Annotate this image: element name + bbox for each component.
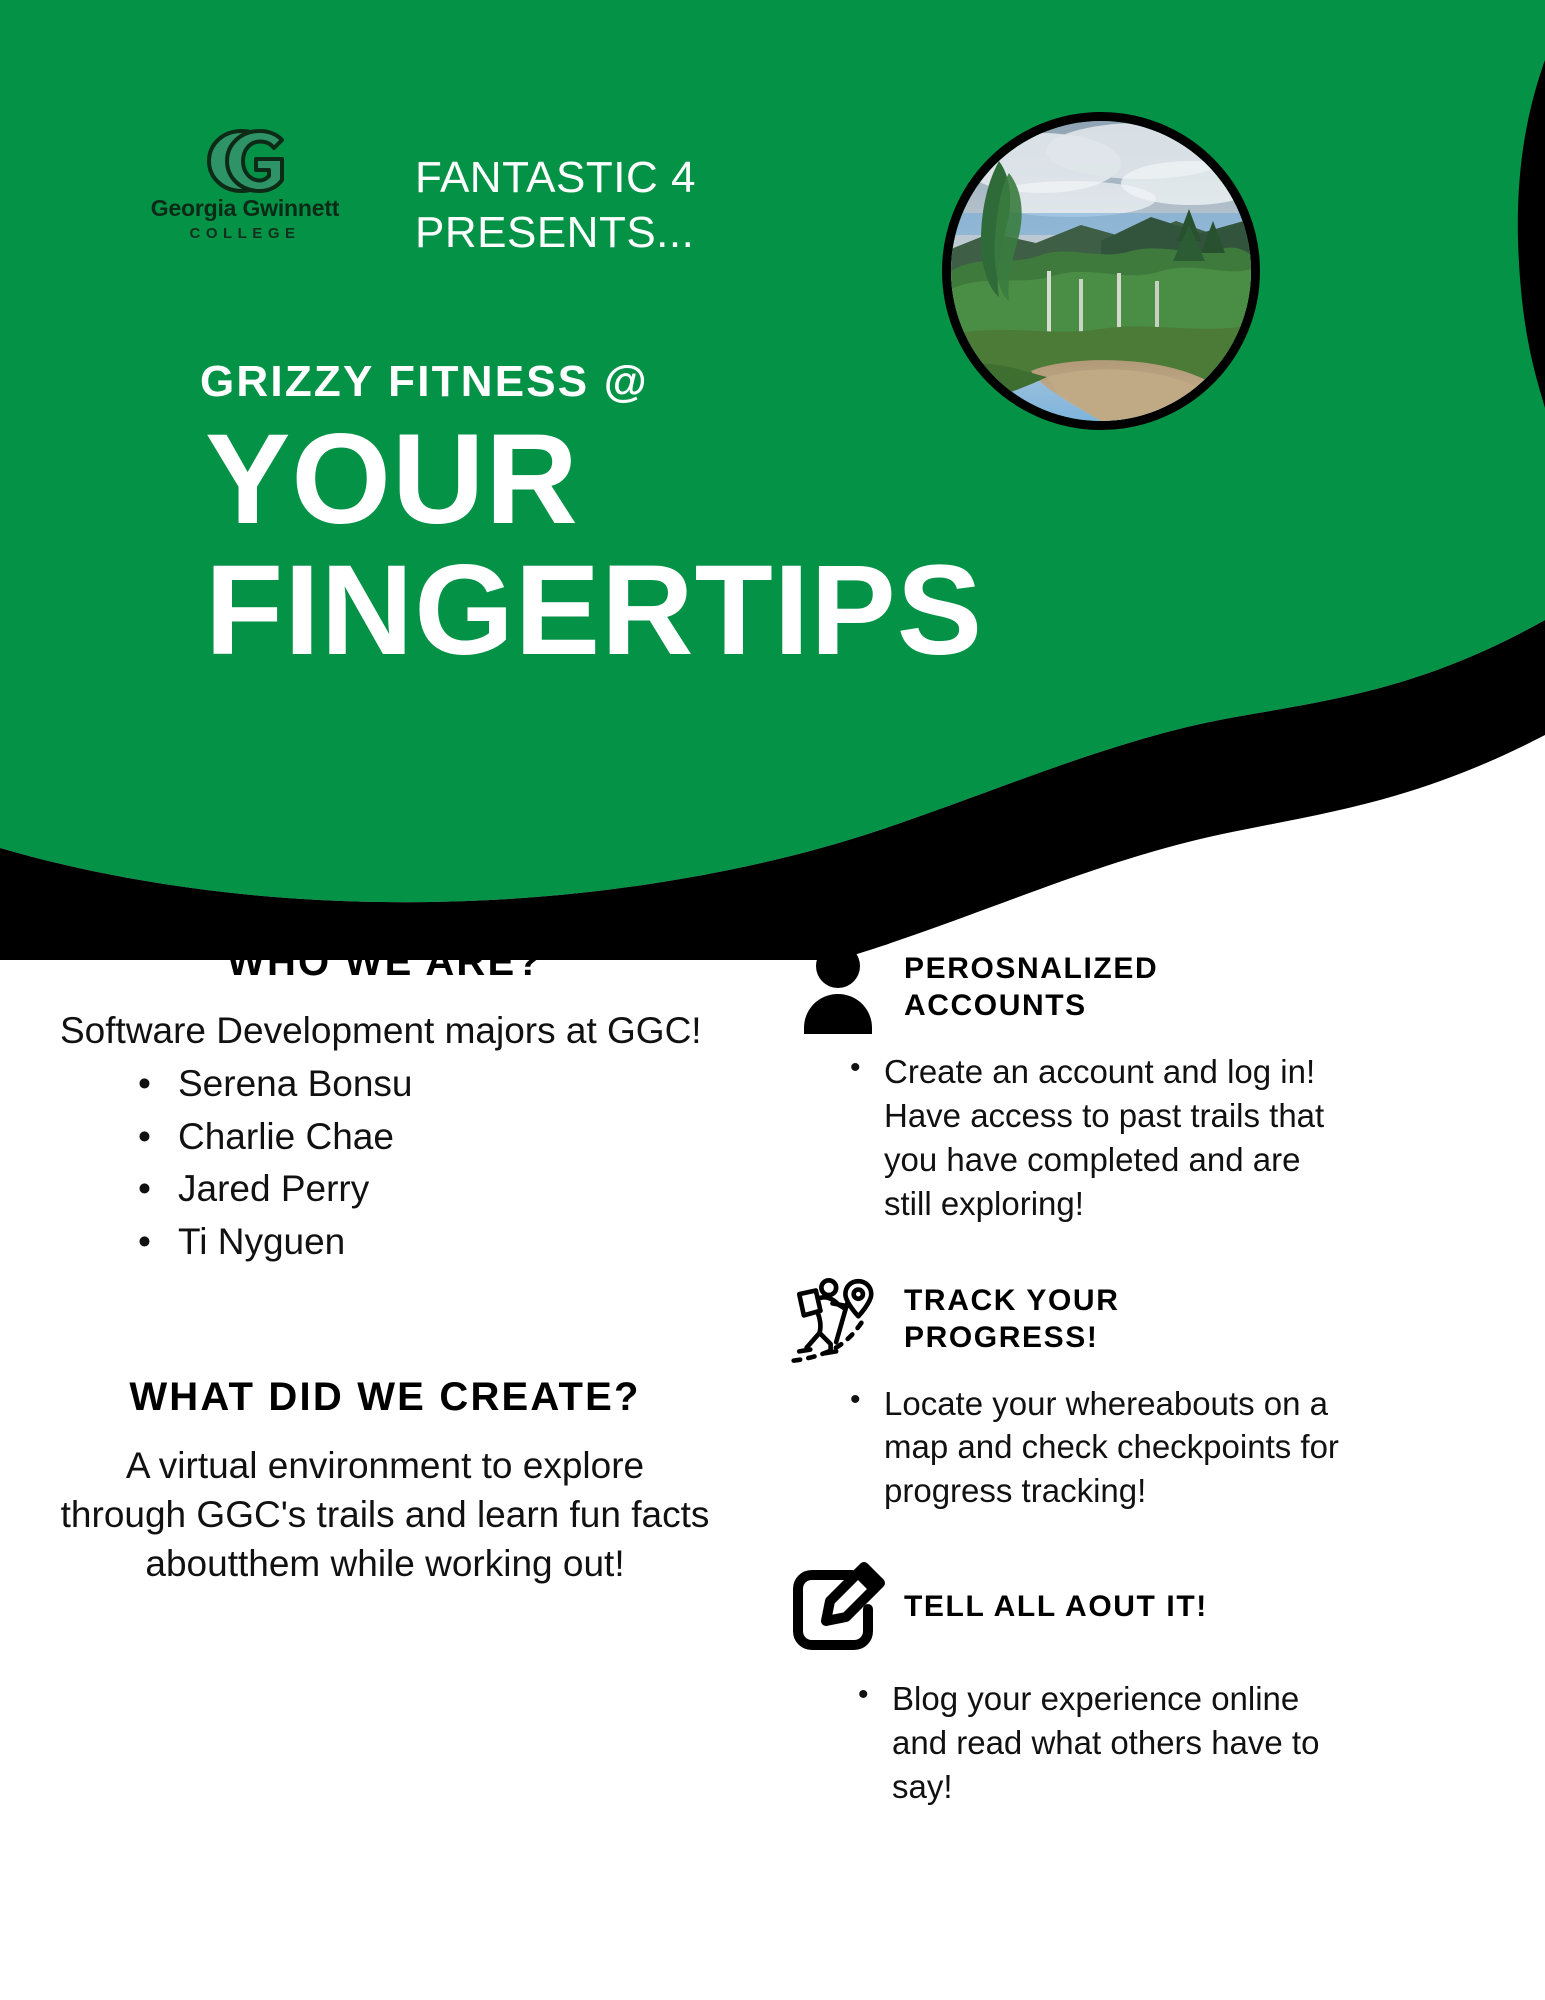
poster-title-line1: YOUR bbox=[205, 415, 1105, 546]
poster-canvas: Georgia Gwinnett COLLEGE FANTASTIC 4 PRE… bbox=[0, 0, 1545, 2000]
poster-title: YOUR FINGERTIPS bbox=[205, 415, 1105, 676]
list-item: Blog your experience online and read wha… bbox=[858, 1677, 1350, 1809]
ggc-logo-name: Georgia Gwinnett bbox=[150, 195, 340, 222]
feature-track-progress: TRACK YOUR PROGRESS! Locate your whereab… bbox=[790, 1272, 1350, 1514]
what-did-we-create-body: A virtual environment to explore through… bbox=[60, 1442, 710, 1588]
list-item: Create an account and log in! Have acces… bbox=[850, 1050, 1350, 1226]
feature-bullets: Blog your experience online and read wha… bbox=[790, 1677, 1350, 1809]
ggc-double-g-icon bbox=[202, 128, 288, 194]
hiker-map-pin-icon bbox=[790, 1272, 886, 1368]
who-we-are-heading: WHO WE ARE? bbox=[60, 940, 710, 985]
list-item: Ti Nyguen bbox=[138, 1218, 710, 1267]
feature-title: TRACK YOUR PROGRESS! bbox=[904, 1283, 1234, 1356]
right-column: PEROSNALIZED ACCOUNTS Create an account … bbox=[790, 940, 1350, 1819]
ggc-logo-subtitle: COLLEGE bbox=[150, 225, 340, 242]
edit-pencil-square-icon bbox=[790, 1559, 886, 1655]
presents-line: FANTASTIC 4 PRESENTS... bbox=[415, 150, 845, 261]
feature-title: TELL ALL AOUT IT! bbox=[904, 1589, 1208, 1626]
poster-title-line2: FINGERTIPS bbox=[205, 546, 1105, 677]
trail-photo-illustration bbox=[951, 121, 1251, 421]
feature-personalized-accounts: PEROSNALIZED ACCOUNTS Create an account … bbox=[790, 940, 1350, 1226]
ggc-logo: Georgia Gwinnett COLLEGE bbox=[150, 128, 340, 243]
list-item: Jared Perry bbox=[138, 1165, 710, 1214]
kicker-line: GRIZZY FITNESS @ bbox=[200, 357, 649, 407]
feature-bullets: Create an account and log in! Have acces… bbox=[790, 1050, 1350, 1226]
feature-header: PEROSNALIZED ACCOUNTS bbox=[790, 940, 1350, 1036]
feature-tell-all-about-it: TELL ALL AOUT IT! Blog your experience o… bbox=[790, 1559, 1350, 1809]
who-we-are-intro: Software Development majors at GGC! bbox=[60, 1007, 710, 1056]
feature-bullets: Locate your whereabouts on a map and che… bbox=[790, 1382, 1350, 1514]
trail-photo bbox=[942, 112, 1260, 430]
list-item: Charlie Chae bbox=[138, 1113, 710, 1162]
what-did-we-create-heading: WHAT DID WE CREATE? bbox=[60, 1375, 710, 1420]
feature-title: PEROSNALIZED ACCOUNTS bbox=[904, 951, 1234, 1024]
list-item: Serena Bonsu bbox=[138, 1060, 710, 1109]
list-item: Locate your whereabouts on a map and che… bbox=[850, 1382, 1350, 1514]
team-member-list: Serena Bonsu Charlie Chae Jared Perry Ti… bbox=[60, 1060, 710, 1267]
feature-header: TELL ALL AOUT IT! bbox=[790, 1559, 1350, 1655]
user-account-icon bbox=[790, 940, 886, 1036]
feature-header: TRACK YOUR PROGRESS! bbox=[790, 1272, 1350, 1368]
left-column: WHO WE ARE? Software Development majors … bbox=[60, 940, 710, 1589]
